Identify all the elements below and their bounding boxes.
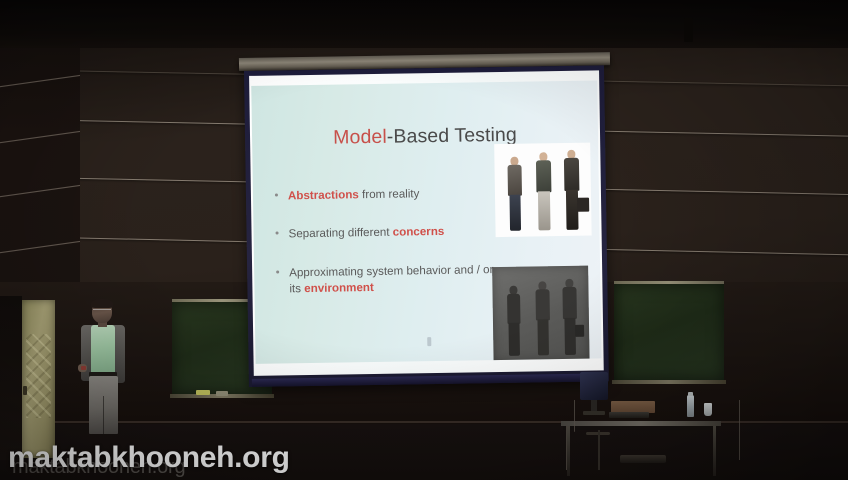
bullet-3-emphasis: environment	[304, 281, 374, 295]
watermark: maktabkhooneh.org	[8, 441, 290, 475]
slide-title-highlight: Model	[333, 126, 387, 149]
stand-pole	[598, 430, 600, 470]
desk-leg	[567, 426, 570, 476]
slide-bullet-2: Separating different concerns	[275, 223, 505, 243]
slide-faint-mark	[427, 337, 431, 346]
cable	[566, 426, 567, 470]
presenter-clicker	[81, 366, 86, 370]
wall-speaker	[684, 18, 693, 42]
stage-door[interactable]	[22, 300, 55, 458]
chalkboard-right	[614, 284, 724, 380]
chalk-piece	[196, 390, 210, 395]
cable	[739, 400, 740, 460]
presenter-hair	[91, 299, 113, 308]
presentation-slide: Model-Based Testing Abstractions from re…	[251, 80, 601, 363]
water-bottle	[687, 395, 694, 417]
water-bottle-cap	[688, 392, 693, 396]
door-handle-icon[interactable]	[23, 386, 27, 395]
bullet-dot-icon	[275, 193, 278, 196]
monitor-base	[583, 411, 605, 415]
door-pattern	[26, 334, 51, 418]
slide-image-silhouettes	[492, 266, 589, 362]
presenter	[72, 300, 134, 434]
bullet-1-rest: from reality	[359, 187, 420, 201]
board-eraser	[216, 391, 228, 396]
presenter-leg-split	[103, 396, 104, 434]
bullet-2-emphasis: concerns	[393, 225, 445, 239]
cable	[574, 400, 575, 432]
bullet-dot-icon	[276, 270, 279, 273]
presenter-shirt	[91, 325, 115, 374]
paper-cup	[704, 403, 712, 416]
desk-leg	[713, 426, 716, 476]
board-top-rail	[614, 281, 724, 284]
bullet-2-lead: Separating different	[288, 226, 392, 241]
board-chalk-tray	[612, 380, 726, 384]
floor-equipment	[620, 455, 666, 463]
bullet-1-emphasis: Abstractions	[288, 188, 359, 202]
ceiling	[0, 0, 848, 48]
desk-keyboard	[609, 412, 649, 418]
video-frame: Model-Based Testing Abstractions from re…	[0, 0, 848, 480]
desk-monitor	[580, 372, 608, 400]
slide-image-three-men	[494, 143, 591, 237]
screen-surface: Model-Based Testing Abstractions from re…	[249, 70, 604, 375]
slide-bullet-3: Approximating system behavior and / or i…	[276, 262, 506, 298]
slide-bullet-1: Abstractions from reality	[275, 185, 505, 205]
desk-apron	[563, 426, 719, 430]
door-frame	[0, 296, 22, 460]
bullet-dot-icon	[276, 231, 279, 234]
projection-screen[interactable]: Model-Based Testing Abstractions from re…	[244, 65, 609, 387]
presenter-glasses	[93, 309, 111, 313]
